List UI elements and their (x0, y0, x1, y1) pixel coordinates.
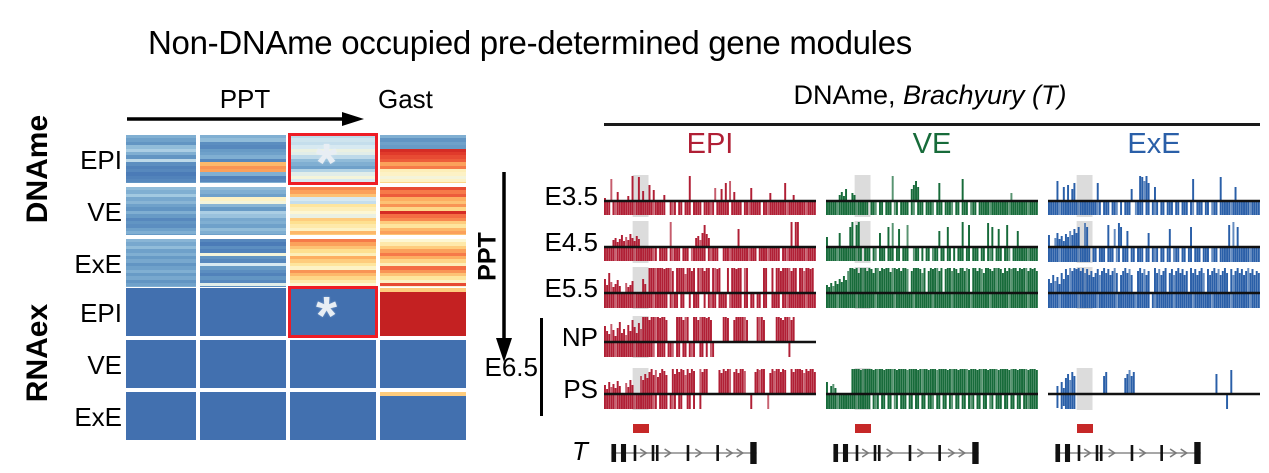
genome-track-epi-e5-5[interactable] (604, 267, 816, 309)
asterisk-marker-dname: * (316, 136, 337, 190)
right-panel-rule (604, 123, 1260, 126)
heatmap-stripe (126, 234, 196, 235)
genome-track-exe-e4-5[interactable] (1048, 221, 1260, 263)
e6-5-bracket (540, 318, 543, 416)
ppt-axis-label: PPT (126, 84, 364, 115)
heatmap-cell-dname-ve-col3[interactable] (290, 187, 376, 235)
right-panel-title-plain: DNAme, (793, 80, 903, 110)
asterisk-marker-rnaex: * (316, 289, 337, 343)
ppt-arrow-icon (126, 112, 364, 126)
heatmap-cell-dname-ve-col2[interactable] (200, 187, 286, 235)
genome-track-epi-ps[interactable] (604, 368, 816, 410)
group-label-exe: ExE (1048, 128, 1260, 161)
right-panel-title: DNAme, Brachyury (T) (600, 80, 1260, 111)
gene-model-exe[interactable] (1048, 438, 1260, 468)
row-label-rnaex-exe: ExE (36, 402, 122, 433)
right-panel-title-gene: Brachyury (T) (903, 80, 1067, 110)
heatmap-cell-rnaex-ve-col3[interactable] (290, 340, 376, 388)
heatmap-cell-dname-exe-col4[interactable] (380, 239, 466, 287)
heatmap-cell-dname-ve-col4[interactable] (380, 187, 466, 235)
heatmap-cell-dname-epi-col4[interactable] (380, 135, 466, 183)
row-label-dname-epi: EPI (36, 145, 122, 176)
genome-track-ve-e5-5[interactable] (826, 267, 1038, 309)
promoter-bar-ve (855, 424, 871, 433)
heatmap-stripe (290, 234, 376, 235)
stage-sublabel-np: NP (542, 322, 598, 353)
heatmap-cell-rnaex-epi-col4[interactable] (380, 288, 466, 336)
stage-label-E3-5: E3.5 (510, 181, 598, 212)
genome-track-exe-e5-5[interactable] (1048, 267, 1260, 309)
stage-sublabel-ps: PS (542, 374, 598, 405)
heatmap-cell-rnaex-exe-col2[interactable] (200, 392, 286, 440)
heatmap-cell-dname-ve-col1[interactable] (126, 187, 196, 235)
genome-track-epi-e4-5[interactable] (604, 221, 816, 263)
heatmap-cell-rnaex-exe-col3[interactable] (290, 392, 376, 440)
heatmap-stripe (380, 234, 466, 235)
left-heatmap-panel: DNAme RNAex PPT Gast EPIVEExEEPIVEExE ** (0, 80, 470, 460)
stage-label-e6-5: E6.5 (462, 352, 538, 383)
genome-track-epi-np[interactable] (604, 316, 816, 358)
heatmap-stripe (200, 182, 286, 183)
group-label-epi: EPI (604, 128, 816, 161)
genome-track-exe-ps[interactable] (1048, 368, 1260, 410)
gene-name-label: T (572, 436, 588, 467)
heatmap-stripe (200, 286, 286, 287)
right-genome-panel: DNAme, Brachyury (T) EPIVEExE PPT E3.5E4… (470, 80, 1269, 462)
stage-label-E4-5: E4.5 (510, 227, 598, 258)
heatmap-stripe (200, 234, 286, 235)
heatmap-cell-rnaex-epi-col2[interactable] (200, 288, 286, 336)
promoter-bar-epi (633, 424, 649, 433)
stage-label-E5-5: E5.5 (510, 273, 598, 304)
gast-column-label: Gast (378, 84, 470, 115)
figure-root: Non-DNAme occupied pre-determined gene m… (0, 0, 1269, 462)
genome-track-ve-ps[interactable] (826, 368, 1038, 410)
heatmap-stripe (126, 182, 196, 183)
heatmap-stripe (380, 286, 466, 287)
gene-model-ve[interactable] (826, 438, 1038, 468)
row-label-dname-exe: ExE (36, 249, 122, 280)
genome-track-ve-e3-5[interactable] (826, 175, 1038, 217)
group-label-ve: VE (826, 128, 1038, 161)
ppt-axis-group: PPT (126, 84, 364, 124)
page-title: Non-DNAme occupied pre-determined gene m… (0, 24, 1060, 62)
row-label-rnaex-ve: VE (36, 350, 122, 381)
heatmap-cell-rnaex-exe-col1[interactable] (126, 392, 196, 440)
row-label-dname-ve: VE (36, 197, 122, 228)
heatmap-cell-rnaex-ve-col2[interactable] (200, 340, 286, 388)
genome-track-ve-e4-5[interactable] (826, 221, 1038, 263)
heatmap-stripe (380, 182, 466, 183)
heatmap-cell-dname-exe-col3[interactable] (290, 239, 376, 287)
promoter-bar-exe (1077, 424, 1093, 433)
heatmap-cell-dname-epi-col1[interactable] (126, 135, 196, 183)
heatmap-cell-rnaex-ve-col1[interactable] (126, 340, 196, 388)
heatmap-cell-dname-exe-col2[interactable] (200, 239, 286, 287)
heatmap-cell-rnaex-ve-col4[interactable] (380, 340, 466, 388)
heatmap-cell-dname-epi-col2[interactable] (200, 135, 286, 183)
gene-model-epi[interactable] (604, 438, 816, 468)
heatmap-cell-rnaex-exe-col4[interactable] (380, 392, 466, 440)
genome-track-epi-e3-5[interactable] (604, 175, 816, 217)
heatmap-cell-dname-exe-col1[interactable] (126, 239, 196, 287)
heatmap-cell-rnaex-epi-col1[interactable] (126, 288, 196, 336)
row-label-rnaex-epi: EPI (36, 298, 122, 329)
heatmap-stripe (126, 286, 196, 287)
genome-track-exe-e3-5[interactable] (1048, 175, 1260, 217)
